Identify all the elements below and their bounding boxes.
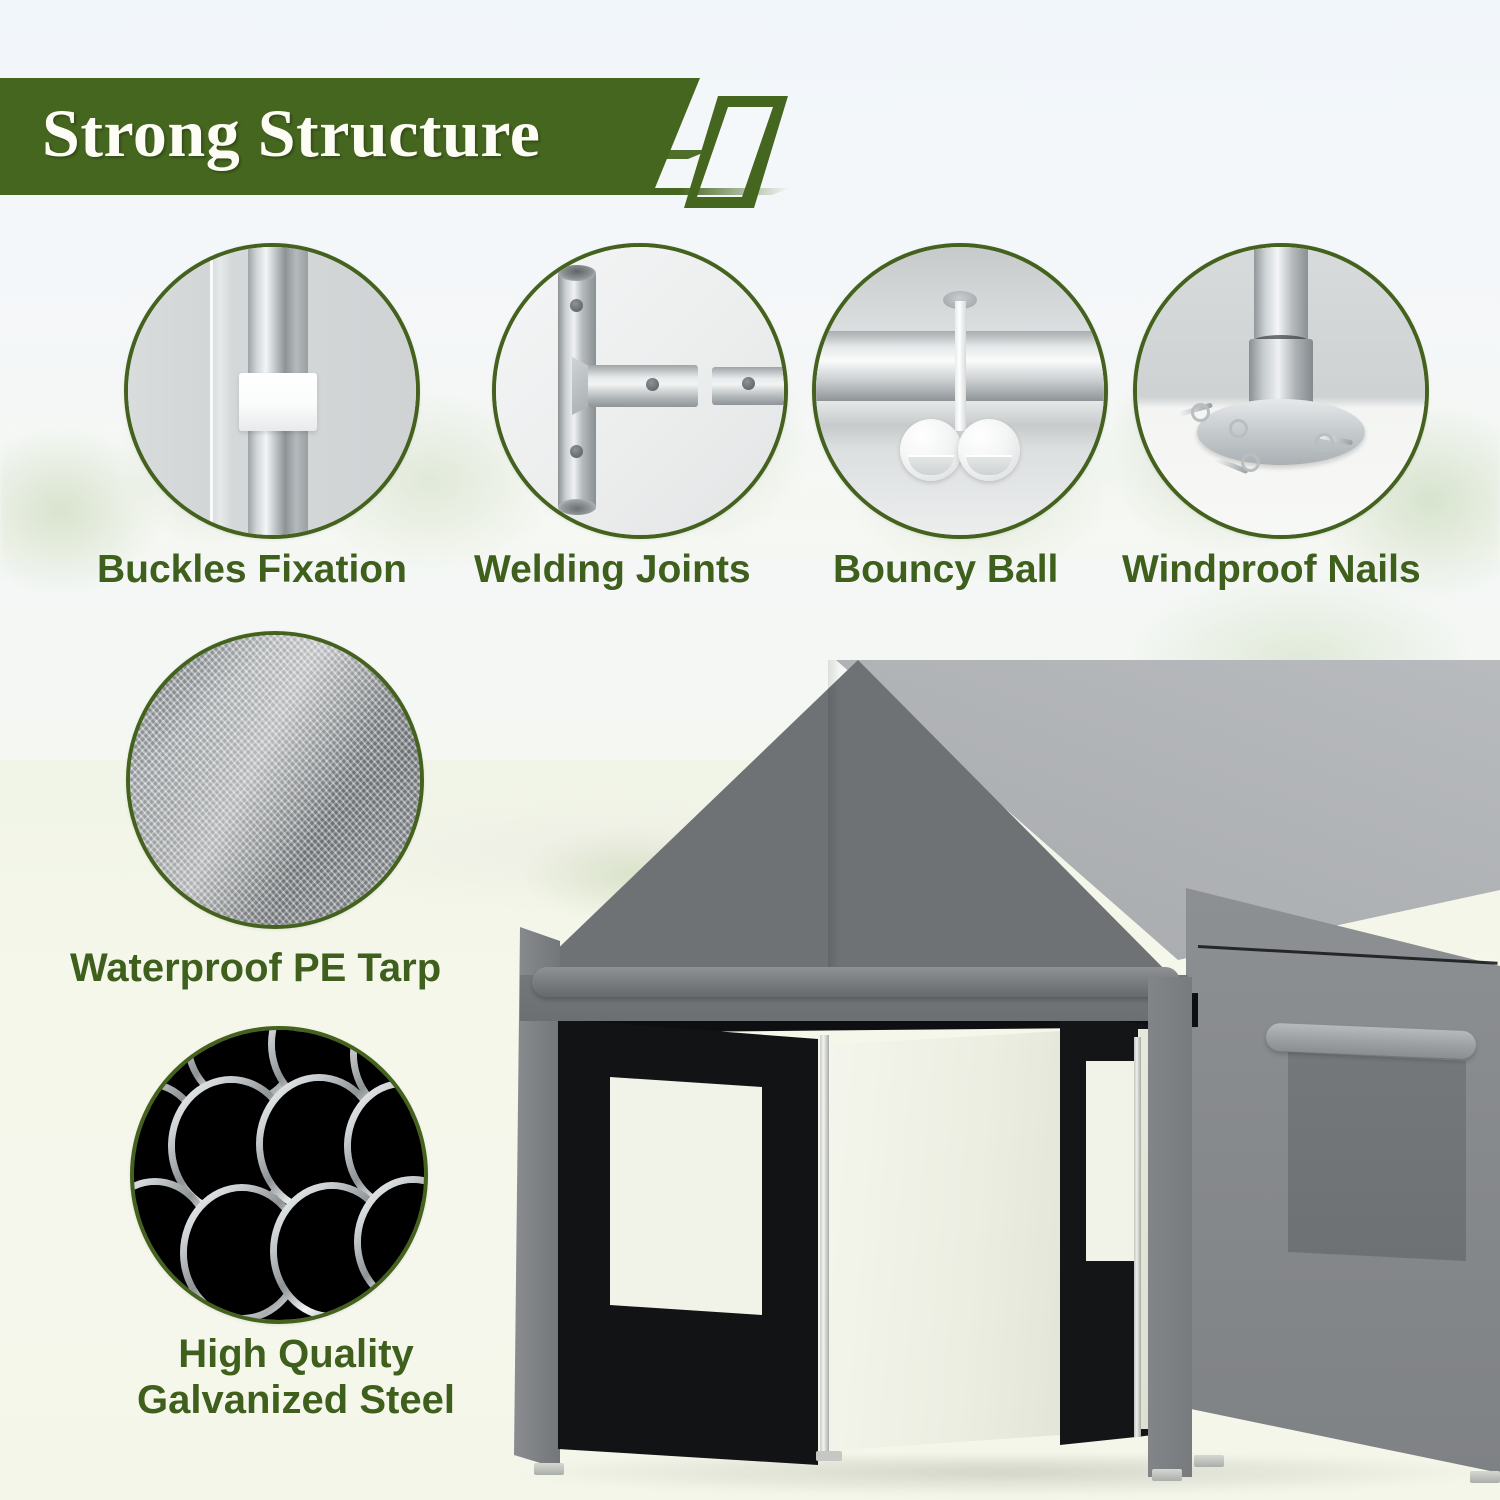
tent-door-foot-plate: [816, 1451, 842, 1461]
infographic-canvas: Strong Structure Buckles Fixation W: [0, 0, 1500, 1500]
feature-label-waterproof-pe-tarp: Waterproof PE Tarp: [70, 946, 441, 991]
feature-icon-windproof-nails: [1133, 243, 1429, 539]
feature-label-welding-joints: Welding Joints: [474, 548, 751, 592]
feature-icon-galvanized-steel: [130, 1026, 428, 1324]
feature-label-buckles-fixation: Buckles Fixation: [97, 548, 407, 592]
feature-icon-welding-joints: [492, 243, 788, 539]
tent-foot-plate: [534, 1463, 564, 1475]
feature-icon-waterproof-pe-tarp: [126, 631, 424, 929]
banner-plate: Strong Structure: [0, 78, 700, 188]
feature-label-line1: High Quality: [96, 1332, 496, 1378]
tent-foot-plate: [1152, 1469, 1182, 1481]
feature-label-windproof-nails: Windproof Nails: [1122, 548, 1421, 592]
feature-label-bouncy-ball: Bouncy Ball: [833, 548, 1058, 592]
product-carport-tent: [498, 645, 1500, 1480]
tent-foot-plate: [1470, 1471, 1500, 1483]
tent-door-post-left: [820, 1035, 829, 1459]
banner-tail-stripe: [0, 188, 790, 195]
tent-gable-ridge-shadow: [828, 660, 840, 990]
feature-label-galvanized-steel: High Quality Galvanized Steel: [96, 1332, 496, 1423]
tent-door-panel-left: [828, 1031, 1060, 1451]
tent-ground-shadow: [512, 1457, 1492, 1495]
tent-door-post-right: [1134, 1037, 1141, 1437]
feature-icon-bouncy-ball: [812, 243, 1108, 539]
tent-front-rolled-flap: [532, 967, 1180, 997]
tent-right-leg: [1148, 977, 1192, 1477]
tent-front-left-window: [610, 1077, 762, 1315]
tent-side-window: [1288, 1049, 1466, 1261]
feature-icon-buckles-fixation: [124, 243, 420, 539]
feature-label-line2: Galvanized Steel: [96, 1378, 496, 1424]
page-title: Strong Structure: [0, 99, 540, 167]
tent-foot-plate: [1194, 1455, 1224, 1467]
